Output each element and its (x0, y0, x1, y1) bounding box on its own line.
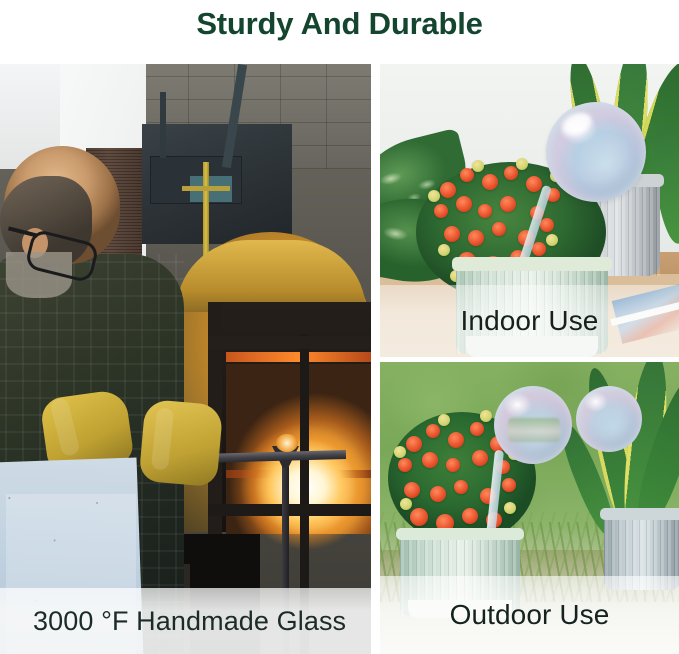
panel-outdoor-use: Outdoor Use (380, 362, 679, 654)
flower-bloom (394, 446, 406, 458)
furnace-frame-horizontal (208, 336, 371, 349)
flower-bloom (504, 502, 516, 514)
gray-pot-rim (600, 508, 679, 520)
flower-bloom (482, 174, 498, 190)
flower-bloom (426, 424, 440, 438)
yellow-rod-crossbar (182, 186, 230, 191)
mint-pot-rim (396, 528, 524, 540)
caption-band-outdoor-use: Outdoor Use (380, 576, 679, 654)
flower-bloom (410, 508, 428, 526)
flower-bloom (540, 218, 554, 232)
product-feature-image: Sturdy And Durable (0, 0, 679, 654)
glass-watering-globe-small (576, 386, 642, 452)
flower-bloom (430, 486, 446, 502)
panel-handmade-glass: 3000 °F Handmade Glass (0, 64, 371, 654)
flower-bloom (468, 230, 484, 246)
flower-bloom (400, 498, 412, 510)
flower-bloom (446, 458, 460, 472)
furnace-frame-horizontal-2 (208, 504, 371, 516)
flower-bloom (440, 182, 456, 198)
flower-bloom (438, 414, 450, 426)
flower-bloom (546, 234, 558, 246)
flower-bloom (526, 176, 542, 192)
flower-bloom (472, 160, 484, 172)
flower-bloom (422, 452, 438, 468)
flower-bloom (444, 226, 460, 242)
flower-bloom (470, 422, 484, 436)
flower-bloom (454, 480, 468, 494)
flower-bloom (516, 158, 528, 170)
flower-bloom (434, 204, 448, 218)
flower-bloom (438, 244, 450, 256)
flower-bloom (398, 458, 412, 472)
glassblowing-photo (0, 64, 371, 654)
flower-bloom (456, 196, 472, 212)
mint-pot-rim (452, 257, 612, 271)
flower-bloom (404, 482, 420, 498)
panel-indoor-use: Indoor Use (380, 64, 679, 357)
caption-outdoor-use: Outdoor Use (450, 599, 610, 631)
flower-bloom (478, 204, 492, 218)
flower-bloom (462, 508, 478, 524)
vertical-pipe (160, 92, 166, 158)
globe-reflection (508, 418, 560, 442)
flower-bloom (406, 436, 422, 452)
flower-bloom (504, 166, 518, 180)
flower-bloom (472, 450, 488, 466)
caption-indoor-use: Indoor Use (461, 305, 599, 337)
flower-bloom (460, 168, 474, 182)
glass-watering-globe (546, 102, 646, 202)
flower-bloom (502, 478, 516, 492)
caption-handmade-glass: 3000 °F Handmade Glass (33, 605, 346, 637)
flower-bloom (500, 196, 516, 212)
flower-bloom (492, 222, 506, 236)
caption-band-indoor-use: Indoor Use (380, 285, 679, 357)
flower-bloom (448, 432, 464, 448)
flower-bloom (532, 242, 546, 256)
caption-band-handmade-glass: 3000 °F Handmade Glass (0, 588, 371, 654)
furnace-hot-edge-top (226, 352, 371, 362)
molten-glass-gather (276, 434, 298, 452)
flower-bloom (428, 190, 440, 202)
page-title: Sturdy And Durable (0, 4, 679, 44)
yellow-glove-right (139, 399, 224, 487)
flower-bloom (480, 410, 492, 422)
